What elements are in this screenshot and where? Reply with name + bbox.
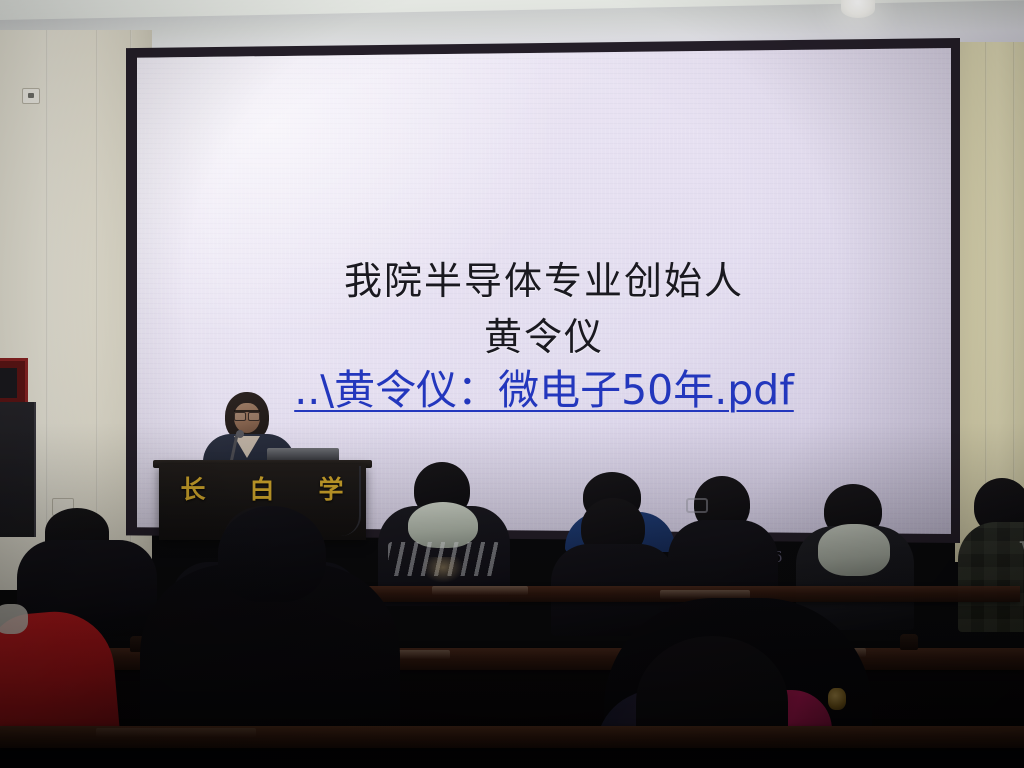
podium-char-1: 长 bbox=[180, 470, 206, 506]
hair-clip bbox=[828, 688, 846, 710]
microphone-icon bbox=[236, 430, 244, 438]
podium-char-2: 白 bbox=[249, 470, 275, 506]
ceiling-light-icon bbox=[841, 0, 875, 18]
hood bbox=[818, 524, 890, 576]
bench-knob bbox=[900, 634, 918, 650]
audience-member-grey-hoodie bbox=[796, 484, 914, 624]
bench-highlight bbox=[96, 728, 256, 737]
jacket-logo: W bbox=[1020, 536, 1024, 571]
glasses-icon bbox=[686, 498, 708, 513]
bench-highlight bbox=[432, 586, 528, 595]
glasses-icon bbox=[234, 410, 260, 419]
slide-title-line-2: 黄令仪 bbox=[137, 306, 951, 361]
lecture-hall-photo: 我院半导体专业创始人 黄令仪 ..\黄令仪：微电子50年.pdf 6 长 白 学 bbox=[0, 0, 1024, 768]
red-frame-inner bbox=[0, 368, 17, 398]
audience-member-long-hair bbox=[551, 498, 677, 628]
hoodie-print-detail bbox=[422, 557, 464, 583]
audience-member-plaid-jacket: W bbox=[958, 478, 1024, 628]
red-jacket-collar bbox=[0, 604, 28, 634]
audience-member-graphic-hoodie bbox=[378, 462, 510, 602]
slide-title-line-1: 我院半导体专业创始人 bbox=[137, 250, 951, 305]
slide-pdf-hyperlink[interactable]: ..\黄令仪：微电子50年.pdf bbox=[294, 366, 794, 414]
audience-member-leaning-left bbox=[17, 504, 157, 624]
wall-switch[interactable] bbox=[22, 88, 40, 104]
